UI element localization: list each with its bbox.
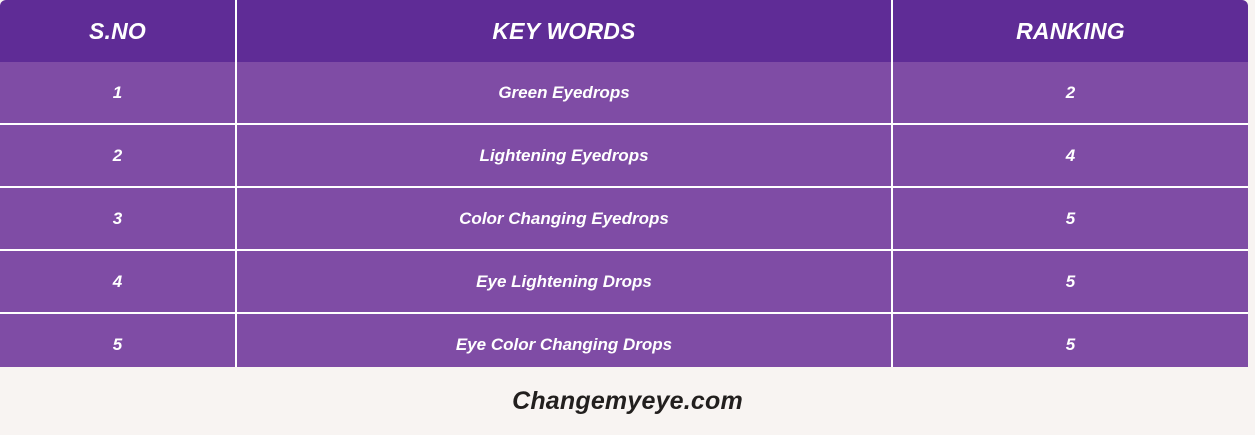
table-header-row: S.NO KEY WORDS RANKING	[0, 0, 1248, 62]
cell-sno: 1	[0, 62, 236, 124]
table-row: 1 Green Eyedrops 2	[0, 62, 1248, 124]
cell-sno: 2	[0, 124, 236, 187]
keyword-ranking-table: S.NO KEY WORDS RANKING 1 Green Eyedrops …	[0, 0, 1248, 378]
column-header-sno: S.NO	[0, 0, 236, 62]
cell-ranking: 4	[892, 124, 1248, 187]
cell-ranking: 5	[892, 187, 1248, 250]
table-row: 3 Color Changing Eyedrops 5	[0, 187, 1248, 250]
table-row: 2 Lightening Eyedrops 4	[0, 124, 1248, 187]
cell-keyword: Green Eyedrops	[236, 62, 892, 124]
footer: Changemyeye.com	[0, 367, 1255, 435]
cell-ranking: 5	[892, 250, 1248, 313]
cell-keyword: Lightening Eyedrops	[236, 124, 892, 187]
table-header: S.NO KEY WORDS RANKING	[0, 0, 1248, 62]
cell-sno: 4	[0, 250, 236, 313]
table-row: 4 Eye Lightening Drops 5	[0, 250, 1248, 313]
cell-keyword: Color Changing Eyedrops	[236, 187, 892, 250]
column-header-keywords: KEY WORDS	[236, 0, 892, 62]
cell-sno: 3	[0, 187, 236, 250]
keyword-ranking-page: S.NO KEY WORDS RANKING 1 Green Eyedrops …	[0, 0, 1255, 435]
cell-keyword: Eye Lightening Drops	[236, 250, 892, 313]
table-body: 1 Green Eyedrops 2 2 Lightening Eyedrops…	[0, 62, 1248, 377]
cell-ranking: 2	[892, 62, 1248, 124]
site-brand: Changemyeye.com	[512, 387, 743, 416]
column-header-ranking: RANKING	[892, 0, 1248, 62]
